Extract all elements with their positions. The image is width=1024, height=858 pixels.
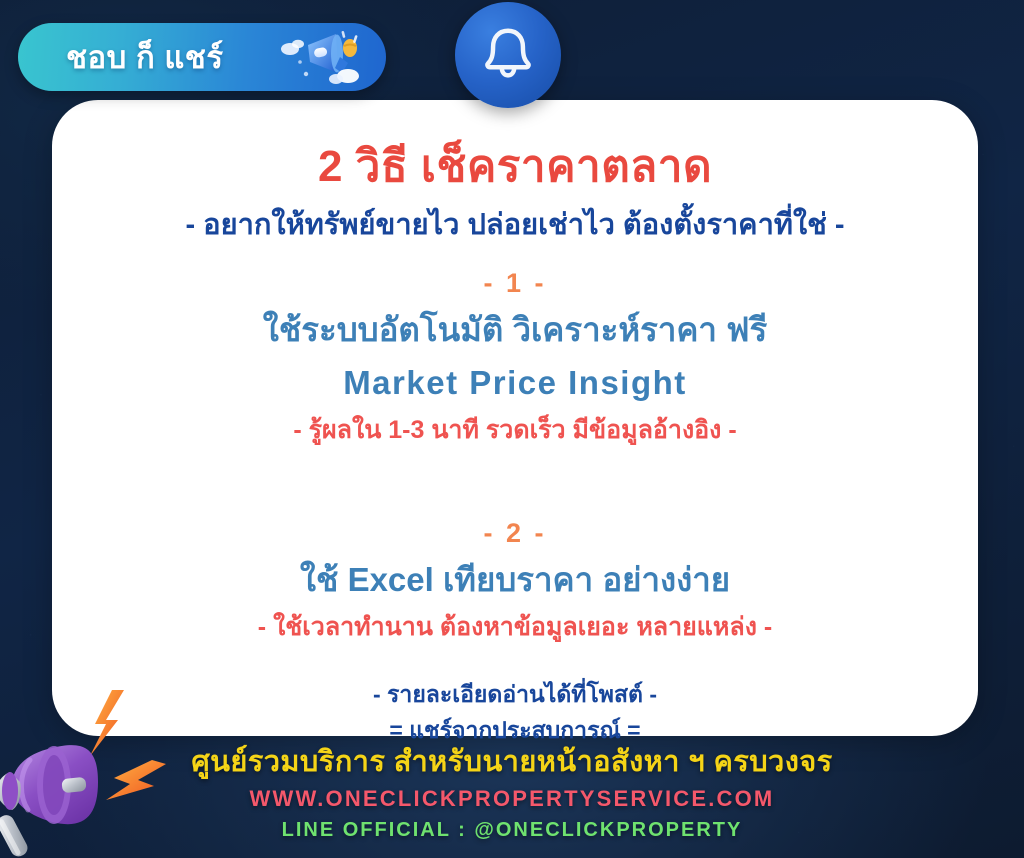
footer: ศูนย์รวมบริการ สำหรับนายหน้าอสังหา ฯ ครบ…: [0, 744, 1024, 842]
page-subtitle: - อยากให้ทรัพย์ขายไว ปล่อยเช่าไว ต้องตั้…: [52, 208, 978, 243]
card-content: 2 วิธี เช็คราคาตลาด - อยากให้ทรัพย์ขายไว…: [52, 100, 978, 736]
footer-website[interactable]: WWW.ONECLICKPROPERTYSERVICE.COM: [0, 786, 1024, 812]
bell-icon: [477, 22, 539, 89]
footer-tagline: ศูนย์รวมบริการ สำหรับนายหน้าอสังหา ฯ ครบ…: [0, 744, 1024, 780]
share-badge[interactable]: ชอบ ก็ แชร์: [18, 23, 386, 91]
section-2-number: - 2 -: [52, 518, 978, 549]
bell-badge[interactable]: [455, 2, 561, 108]
footnote-read-post: - รายละเอียดอ่านได้ที่โพสต์ -: [52, 677, 978, 713]
section-spacer: [52, 450, 978, 492]
page-title: 2 วิธี เช็คราคาตลาด: [52, 142, 978, 193]
section-1-heading-th: ใช้ระบบอัตโนมัติ วิเคราะห์ราคา ฟรี: [52, 309, 978, 351]
section-2-note: - ใช้เวลาทำนาน ต้องหาข้อมูลเยอะ หลายแหล่…: [52, 607, 978, 647]
section-2-heading-th: ใช้ Excel เทียบราคา อย่างง่าย: [52, 559, 978, 601]
megaphone-3d-icon: [278, 29, 364, 87]
section-1-number: - 1 -: [52, 268, 978, 299]
share-badge-label: ชอบ ก็ แชร์: [66, 32, 224, 82]
footer-line-official[interactable]: LINE OFFICIAL : @ONECLICKPROPERTY: [0, 819, 1024, 842]
section-1-heading-en: Market Price Insight: [52, 362, 978, 404]
poster-canvas: ชอบ ก็ แชร์: [0, 0, 1024, 858]
section-1-note: - รู้ผลใน 1-3 นาที รวดเร็ว มีข้อมูลอ้างอ…: [52, 410, 978, 450]
